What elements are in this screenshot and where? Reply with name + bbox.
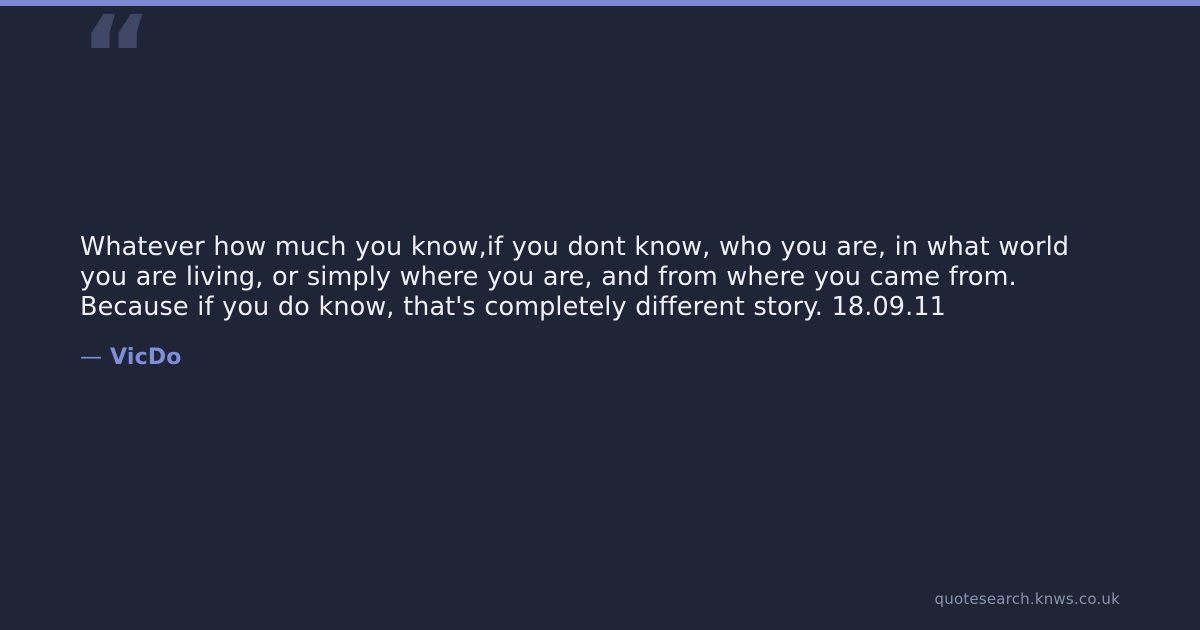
- author-name: VicDo: [102, 345, 182, 370]
- top-accent-bar: [0, 0, 1200, 6]
- quote-attribution: —VicDo: [80, 322, 1120, 372]
- quote-text: Whatever how much you know,if you dont k…: [80, 232, 1120, 322]
- quote-content: Whatever how much you know,if you dont k…: [80, 232, 1120, 372]
- quote-card: “ Whatever how much you know,if you dont…: [0, 0, 1200, 630]
- attribution-dash: —: [80, 345, 102, 370]
- quotation-mark-icon: “: [80, 0, 140, 116]
- site-watermark: quotesearch.knws.co.uk: [935, 590, 1120, 608]
